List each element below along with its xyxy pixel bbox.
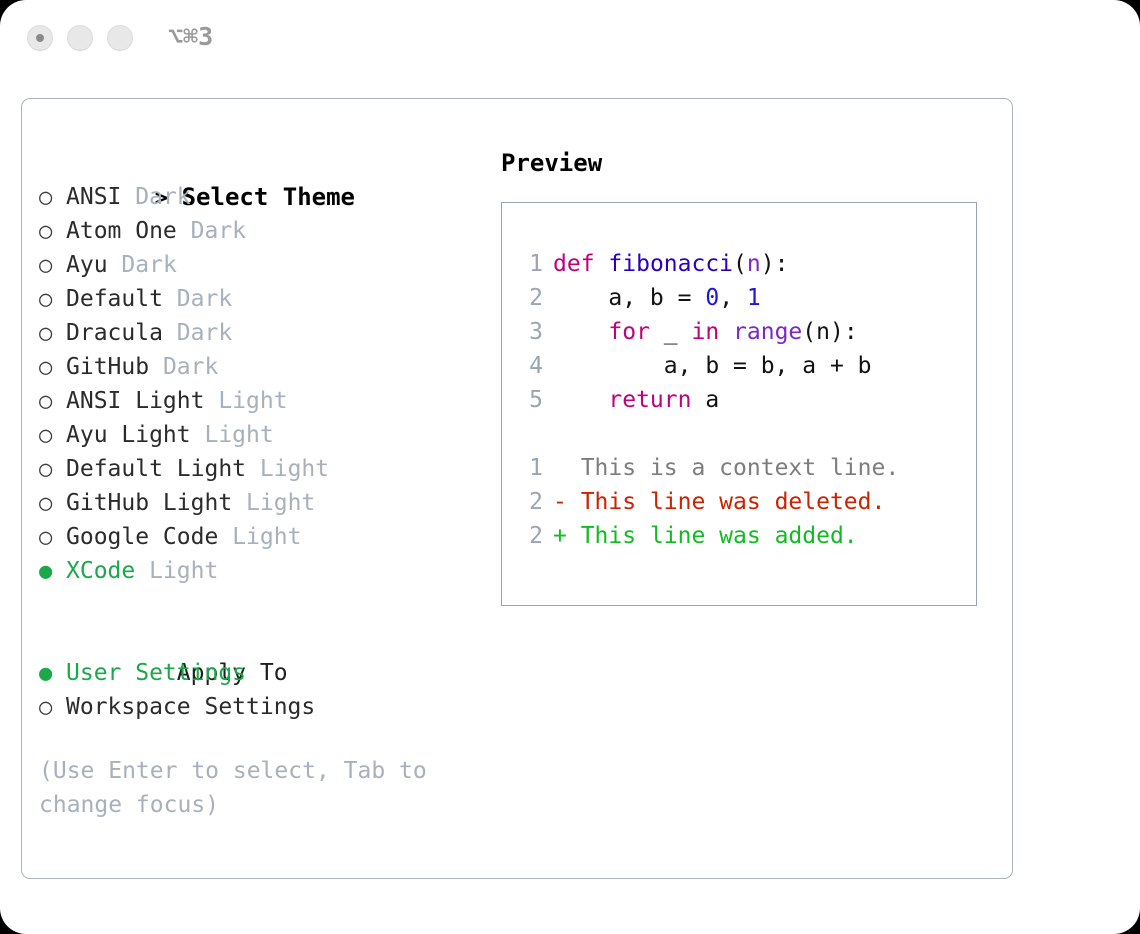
theme-option-variant: Dark bbox=[191, 218, 246, 244]
theme-option[interactable]: ○Atom One Dark bbox=[39, 214, 479, 248]
theme-option-variant: Light bbox=[232, 524, 301, 550]
theme-option-space bbox=[149, 354, 163, 380]
theme-option-variant: Dark bbox=[135, 184, 190, 210]
app-window: ⌥⌘3 >Select Theme ○ANSI Dark○Atom One Da… bbox=[0, 0, 1140, 934]
radio-unselected-icon: ○ bbox=[39, 521, 66, 555]
code-token bbox=[719, 319, 733, 345]
theme-selector-column: >Select Theme ○ANSI Dark○Atom One Dark○A… bbox=[39, 146, 479, 822]
code-token: a, b = b, a + b bbox=[553, 353, 872, 379]
code-line: 4 a, b = b, a + b bbox=[513, 349, 968, 383]
code-token: ): bbox=[761, 251, 789, 277]
code-token: 1 bbox=[747, 285, 761, 311]
diff-text: This line was added. bbox=[581, 523, 858, 549]
code-line-number: 1 bbox=[513, 247, 543, 281]
code-token: def bbox=[553, 251, 595, 277]
theme-option-space bbox=[204, 388, 218, 414]
theme-option-space bbox=[177, 218, 191, 244]
main-panel: >Select Theme ○ANSI Dark○Atom One Dark○A… bbox=[21, 98, 1013, 879]
diff-sign bbox=[553, 455, 581, 481]
theme-option-space bbox=[218, 524, 232, 550]
radio-unselected-icon: ○ bbox=[39, 215, 66, 249]
code-token bbox=[553, 319, 608, 345]
theme-option-name: Google Code bbox=[66, 524, 218, 550]
code-line: 1def fibonacci(n): bbox=[513, 247, 968, 281]
theme-option-variant: Light bbox=[246, 490, 315, 516]
apply-to-option-label: Workspace Settings bbox=[66, 694, 315, 720]
diff-line: 1 This is a context line. bbox=[513, 451, 968, 485]
code-token: in bbox=[691, 319, 719, 345]
code-line-number: 2 bbox=[513, 281, 543, 315]
theme-option-space bbox=[163, 320, 177, 346]
diff-line-number: 1 bbox=[513, 451, 543, 485]
theme-option-name: GitHub bbox=[66, 354, 149, 380]
radio-unselected-icon: ○ bbox=[39, 419, 66, 453]
apply-to-heading: ○Apply To bbox=[39, 622, 479, 656]
theme-option-name: Ayu bbox=[66, 252, 108, 278]
code-token: ( bbox=[733, 251, 747, 277]
theme-option-name: Default bbox=[66, 286, 163, 312]
title-bar: ⌥⌘3 bbox=[0, 0, 1140, 76]
select-theme-label: Select Theme bbox=[182, 183, 355, 211]
code-token bbox=[595, 251, 609, 277]
code-line: 2 a, b = 0, 1 bbox=[513, 281, 968, 315]
preview-box: 1def fibonacci(n):2 a, b = 0, 13 for _ i… bbox=[501, 202, 977, 606]
theme-option[interactable]: ○Ayu Dark bbox=[39, 248, 479, 282]
theme-option-name: Dracula bbox=[66, 320, 163, 346]
code-token: range bbox=[733, 319, 802, 345]
preview-column: Preview 1def fibonacci(n):2 a, b = 0, 13… bbox=[501, 146, 1001, 606]
theme-option[interactable]: ●XCode Light bbox=[39, 554, 479, 588]
traffic-light-minimize-icon[interactable] bbox=[67, 25, 93, 51]
hint-text: (Use Enter to select, Tab to change focu… bbox=[39, 754, 439, 822]
code-token: for bbox=[608, 319, 650, 345]
theme-option[interactable]: ○GitHub Dark bbox=[39, 350, 479, 384]
diff-line: 2+ This line was added. bbox=[513, 519, 968, 553]
radio-selected-icon: ● bbox=[39, 657, 66, 691]
theme-option-space bbox=[232, 490, 246, 516]
theme-option-variant: Light bbox=[218, 388, 287, 414]
theme-option[interactable]: ○ANSI Light Light bbox=[39, 384, 479, 418]
code-token: (n): bbox=[802, 319, 857, 345]
theme-option[interactable]: ○GitHub Light Light bbox=[39, 486, 479, 520]
code-line-number: 3 bbox=[513, 315, 543, 349]
theme-option-space bbox=[163, 286, 177, 312]
theme-option-variant: Dark bbox=[177, 320, 232, 346]
radio-unselected-icon: ○ bbox=[39, 181, 66, 215]
theme-option-variant: Light bbox=[149, 558, 218, 584]
theme-option-space bbox=[246, 456, 260, 482]
apply-to-option[interactable]: ○Workspace Settings bbox=[39, 690, 479, 724]
theme-option-name: Default Light bbox=[66, 456, 246, 482]
theme-option-name: ANSI bbox=[66, 184, 121, 210]
code-token: a, b = bbox=[553, 285, 705, 311]
diff-sign: + bbox=[553, 523, 581, 549]
code-token: a bbox=[691, 387, 719, 413]
theme-option[interactable]: ○Dracula Dark bbox=[39, 316, 479, 350]
theme-option[interactable]: ○Default Light Light bbox=[39, 452, 479, 486]
traffic-light-close-icon[interactable] bbox=[27, 25, 53, 51]
diff-line: 2- This line was deleted. bbox=[513, 485, 968, 519]
theme-option-variant: Dark bbox=[177, 286, 232, 312]
theme-option-name: Atom One bbox=[66, 218, 177, 244]
radio-unselected-icon: ○ bbox=[39, 691, 66, 725]
code-diff-separator bbox=[513, 417, 968, 451]
theme-option-space bbox=[135, 558, 149, 584]
theme-option-space bbox=[191, 422, 205, 448]
theme-option-variant: Dark bbox=[163, 354, 218, 380]
code-token: n bbox=[747, 251, 761, 277]
traffic-light-zoom-icon[interactable] bbox=[107, 25, 133, 51]
radio-selected-icon: ● bbox=[39, 555, 66, 589]
code-token: fibonacci bbox=[608, 251, 733, 277]
radio-unselected-icon: ○ bbox=[39, 249, 66, 283]
code-token: , bbox=[719, 285, 747, 311]
traffic-light-active-dot bbox=[36, 34, 44, 42]
theme-list: ○ANSI Dark○Atom One Dark○Ayu Dark○Defaul… bbox=[39, 180, 479, 588]
diff-text: This is a context line. bbox=[581, 455, 900, 481]
theme-option-variant: Dark bbox=[121, 252, 176, 278]
theme-option-space bbox=[121, 184, 135, 210]
code-token: _ bbox=[650, 319, 692, 345]
radio-unselected-icon: ○ bbox=[39, 487, 66, 521]
theme-option[interactable]: ○Google Code Light bbox=[39, 520, 479, 554]
diff-text: This line was deleted. bbox=[581, 489, 886, 515]
code-line: 3 for _ in range(n): bbox=[513, 315, 968, 349]
code-line: 5 return a bbox=[513, 383, 968, 417]
section-spacer bbox=[39, 588, 479, 622]
theme-option-name: XCode bbox=[66, 558, 135, 584]
select-theme-heading: >Select Theme bbox=[39, 146, 479, 180]
radio-unselected-icon: ○ bbox=[39, 283, 66, 317]
code-line-number: 4 bbox=[513, 349, 543, 383]
radio-unselected-icon: ○ bbox=[39, 453, 66, 487]
theme-option[interactable]: ○Ayu Light Light bbox=[39, 418, 479, 452]
radio-unselected-icon: ○ bbox=[39, 317, 66, 351]
theme-option-variant: Light bbox=[204, 422, 273, 448]
code-line-number: 5 bbox=[513, 383, 543, 417]
theme-option[interactable]: ○Default Dark bbox=[39, 282, 479, 316]
code-token bbox=[553, 387, 608, 413]
theme-option-name: ANSI Light bbox=[66, 388, 204, 414]
code-token: return bbox=[608, 387, 691, 413]
diff-line-number: 2 bbox=[513, 485, 543, 519]
apply-to-option-label: User Settings bbox=[66, 660, 246, 686]
diff-line-number: 2 bbox=[513, 519, 543, 553]
code-token: 0 bbox=[705, 285, 719, 311]
radio-unselected-icon: ○ bbox=[39, 351, 66, 385]
theme-option-name: GitHub Light bbox=[66, 490, 232, 516]
keyboard-shortcut-label: ⌥⌘3 bbox=[168, 22, 213, 51]
radio-unselected-icon: ○ bbox=[39, 385, 66, 419]
code-sample: 1def fibonacci(n):2 a, b = 0, 13 for _ i… bbox=[513, 247, 968, 553]
theme-option-space bbox=[108, 252, 122, 278]
diff-sign: - bbox=[553, 489, 581, 515]
preview-heading: Preview bbox=[501, 146, 1001, 180]
theme-option-name: Ayu Light bbox=[66, 422, 191, 448]
theme-option-variant: Light bbox=[260, 456, 329, 482]
